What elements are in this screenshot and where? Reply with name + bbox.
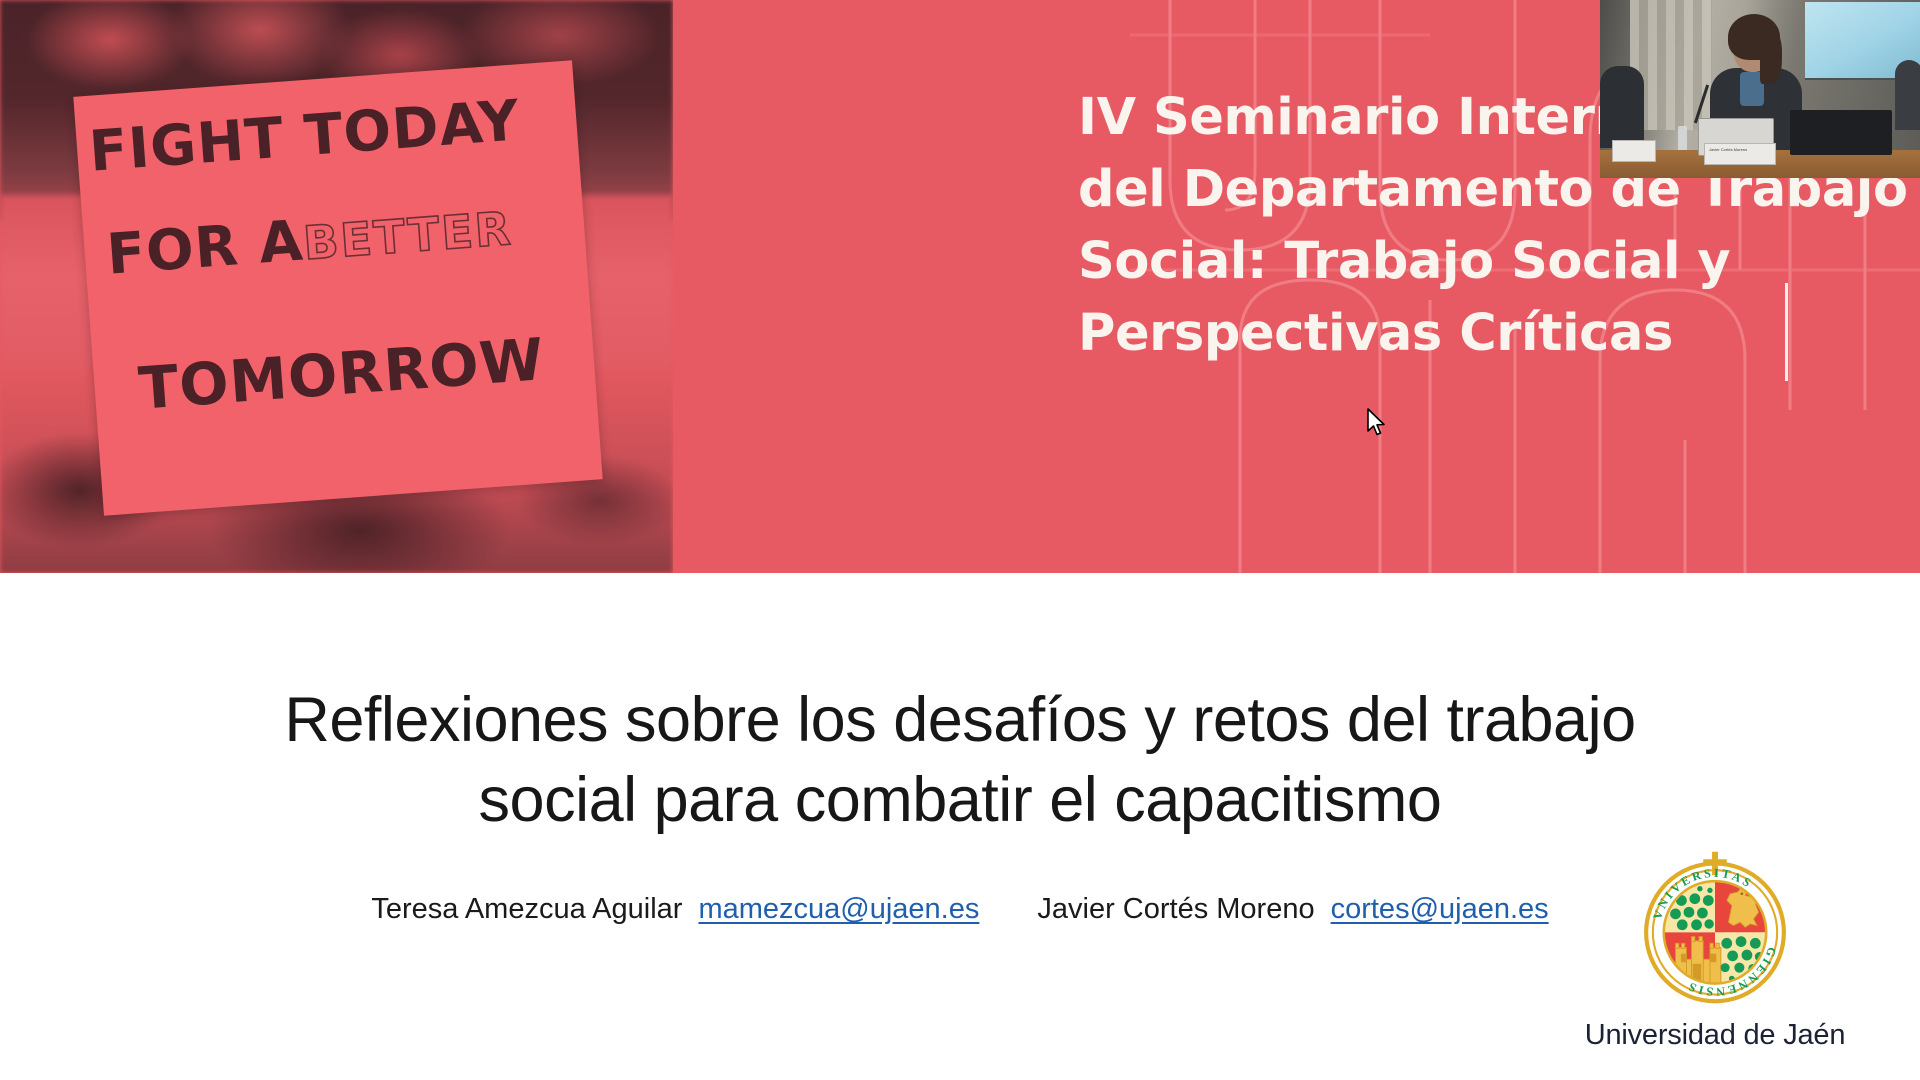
title-line-2: social para combatir el capacitismo [479, 765, 1442, 835]
webcam-overlay[interactable]: Javier Cortés Moreno [1600, 0, 1920, 178]
webcam-nameplate-left [1612, 140, 1656, 162]
author-1-name: Teresa Amezcua Aguilar [371, 893, 682, 925]
webcam-monitor [1790, 110, 1892, 155]
sign-line-2-solid: FOR A [105, 209, 306, 288]
protest-sign: FIGHT TODAY FOR ABETTER TOMORROW [73, 60, 602, 515]
title-line-1: Reflexiones sobre los desafíos y retos d… [284, 685, 1635, 755]
sign-line-1: FIGHT TODAY [87, 83, 590, 184]
protest-photo: FIGHT TODAY FOR ABETTER TOMORROW [0, 0, 673, 573]
webcam-nameplate-name: Javier Cortés Moreno [1709, 147, 1747, 152]
sign-line-2-outline: BETTER [301, 201, 514, 270]
page-title: Reflexiones sobre los desafíos y retos d… [160, 680, 1760, 840]
webcam-speaker-hair-back [1760, 30, 1782, 84]
university-name: Universidad de Jaén [1565, 1019, 1865, 1052]
title-banner: FIGHT TODAY FOR ABETTER TOMORROW IV Semi… [0, 0, 1920, 573]
university-seal-icon: VNIVERSITAS GIENNENSIS [1631, 845, 1799, 1013]
webcam-person-left [1600, 66, 1644, 148]
sign-line-3: TOMORROW [136, 318, 640, 422]
university-logo: VNIVERSITAS GIENNENSIS Universidad de Ja… [1565, 845, 1865, 1052]
sign-line-2: FOR ABETTER [105, 186, 608, 287]
webcam-person-right [1895, 60, 1920, 130]
author-2-email-link[interactable]: cortes@ujaen.es [1331, 893, 1549, 925]
presentation-slide: FIGHT TODAY FOR ABETTER TOMORROW IV Semi… [0, 0, 1920, 1080]
webcam-nameplate-center: Javier Cortés Moreno [1704, 143, 1776, 165]
author-1-email-link[interactable]: mamezcua@ujaen.es [698, 893, 979, 925]
text-caret [1785, 283, 1788, 381]
author-2-name: Javier Cortés Moreno [1037, 893, 1314, 925]
